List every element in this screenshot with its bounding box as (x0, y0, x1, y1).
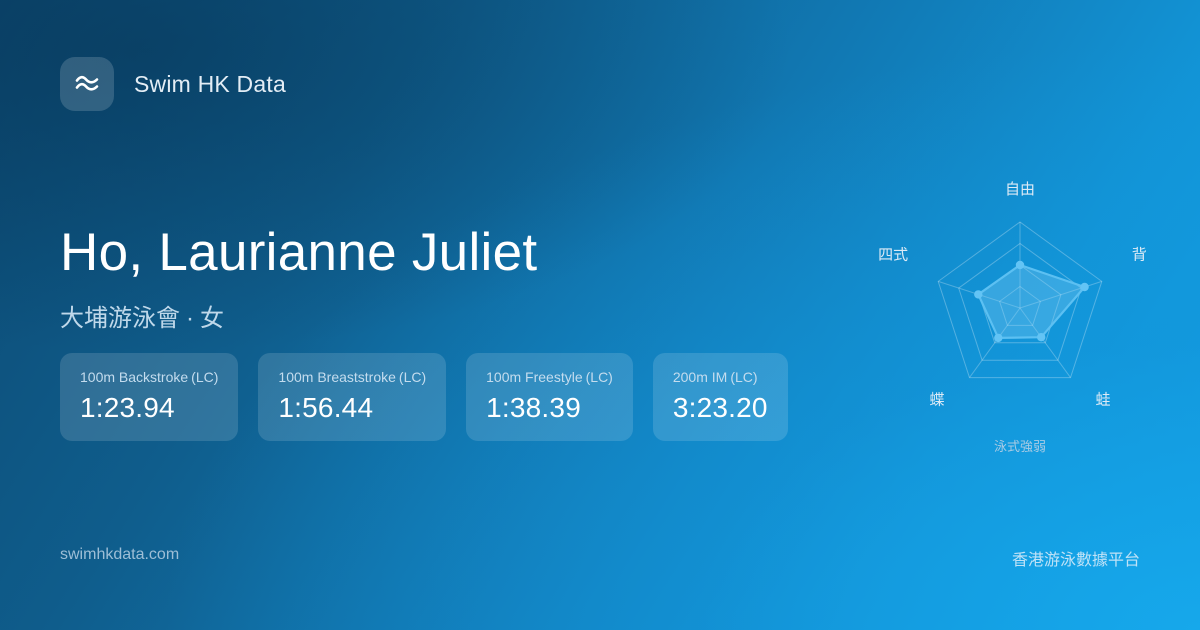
stat-course: (LC) (730, 369, 757, 385)
athlete-meta: 大埔游泳會·女 (60, 298, 224, 333)
radar-point (1080, 283, 1088, 291)
stat-event: 100m Freestyle (486, 369, 582, 385)
app-logo (60, 57, 114, 111)
stat-value: 3:23.20 (673, 392, 768, 424)
wave-icon (72, 69, 102, 99)
stat-event: 100m Breaststroke (278, 369, 396, 385)
radar-axis-label: 自由 (1005, 180, 1035, 198)
radar-point (1037, 333, 1045, 341)
stat-course: (LC) (586, 369, 613, 385)
stat-card: 100m Backstroke(LC) 1:23.94 (60, 353, 238, 441)
brand-name: Swim HK Data (134, 71, 286, 98)
radar-axis-label: 四式 (878, 245, 908, 263)
stat-card: 100m Freestyle(LC) 1:38.39 (466, 353, 633, 441)
stroke-radar-chart: 自由背蛙蝶四式 泳式強弱 (860, 160, 1180, 480)
athlete-gender: 女 (200, 305, 224, 332)
stat-label: 100m Backstroke(LC) (80, 369, 218, 385)
footer-tagline: 香港游泳數據平台 (1012, 546, 1140, 570)
radar-point (1016, 261, 1024, 269)
stat-course: (LC) (191, 369, 218, 385)
footer-site: swimhkdata.com (60, 546, 179, 564)
stat-label: 100m Breaststroke(LC) (278, 369, 426, 385)
radar-axis-label: 蝶 (929, 391, 944, 409)
meta-separator: · (180, 305, 200, 332)
stat-card-list: 100m Backstroke(LC) 1:23.94 100m Breasts… (60, 353, 788, 441)
stat-event: 200m IM (673, 369, 727, 385)
radar-axis-label: 蛙 (1096, 391, 1111, 409)
radar-svg: 自由背蛙蝶四式 泳式強弱 (860, 160, 1180, 480)
athlete-name: Ho, Laurianne Juliet (60, 222, 537, 283)
share-card: Swim HK Data Ho, Laurianne Juliet 大埔游泳會·… (0, 0, 1200, 630)
stat-value: 1:38.39 (486, 392, 613, 424)
radar-point (974, 290, 982, 298)
stat-label: 200m IM(LC) (673, 369, 768, 385)
stat-card: 200m IM(LC) 3:23.20 (653, 353, 788, 441)
radar-caption: 泳式強弱 (994, 440, 1046, 455)
radar-point (994, 334, 1002, 342)
stat-card: 100m Breaststroke(LC) 1:56.44 (258, 353, 446, 441)
stat-label: 100m Freestyle(LC) (486, 369, 613, 385)
athlete-club: 大埔游泳會 (60, 305, 180, 332)
stat-value: 1:23.94 (80, 392, 218, 424)
stat-event: 100m Backstroke (80, 369, 188, 385)
stat-value: 1:56.44 (278, 392, 426, 424)
stat-course: (LC) (399, 369, 426, 385)
brand-header: Swim HK Data (60, 57, 286, 111)
radar-axis-label: 背 (1132, 245, 1147, 263)
